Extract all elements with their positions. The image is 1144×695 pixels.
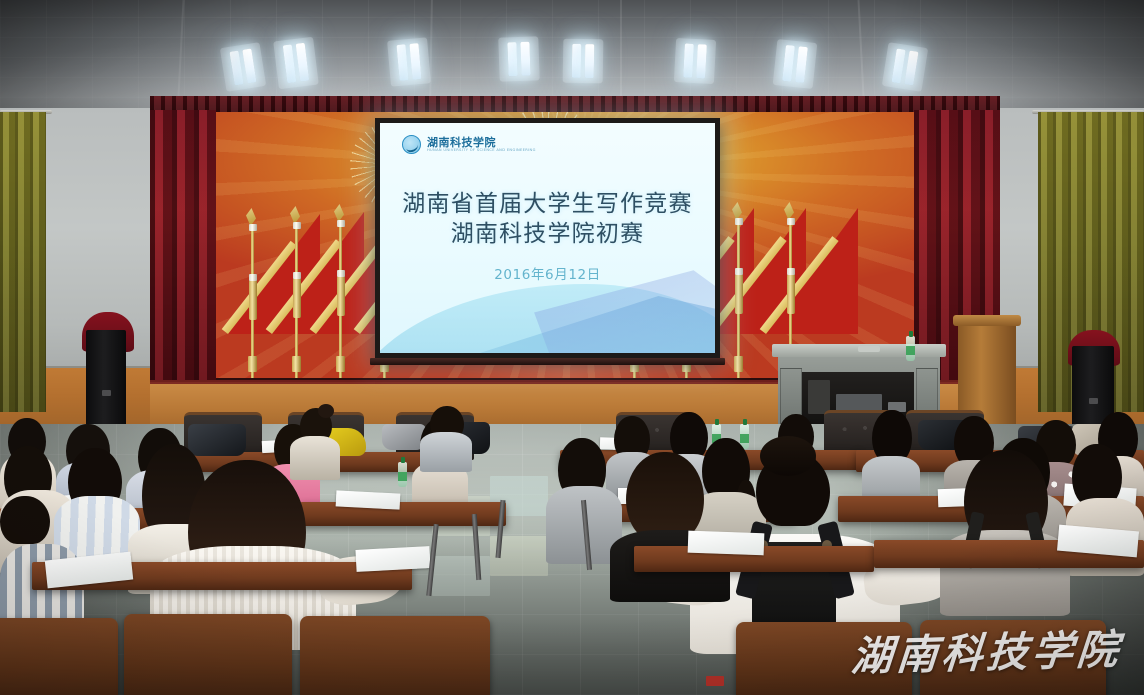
slide-title: 湖南省首届大学生写作竞赛 湖南科技学院初赛 — [380, 189, 715, 250]
speaker-left — [86, 330, 126, 438]
console-remote — [858, 346, 880, 352]
student — [940, 450, 1070, 616]
projection-screen-bottom-bar — [370, 358, 725, 365]
side-curtain-left[interactable] — [0, 112, 46, 412]
slide-date: 2016年6月12日 — [380, 263, 715, 283]
auditorium-seat[interactable] — [300, 616, 490, 695]
exam-paper — [688, 531, 765, 556]
console-gear — [808, 380, 830, 414]
water-bottle — [906, 336, 915, 361]
projection-screen[interactable]: 湖南科技学院 HUNAN UNIVERSITY OF SCIENCE AND E… — [375, 118, 720, 358]
student — [610, 452, 730, 602]
projection-slide: 湖南科技学院 HUNAN UNIVERSITY OF SCIENCE AND E… — [380, 123, 715, 353]
slide-title-line2: 湖南科技学院初赛 — [380, 219, 715, 249]
slide-logo: 湖南科技学院 HUNAN UNIVERSITY OF SCIENCE AND E… — [402, 135, 536, 154]
podium-top — [953, 315, 1021, 326]
auditorium-seat[interactable] — [0, 618, 118, 695]
hair — [626, 452, 704, 540]
slide-title-line1: 湖南省首届大学生写作竞赛 — [380, 189, 715, 219]
hair-bun — [760, 436, 816, 476]
torso — [420, 432, 472, 472]
exam-paper — [355, 546, 430, 572]
hair — [1072, 444, 1122, 506]
auditorium-seat[interactable] — [124, 614, 292, 695]
hair-bun — [318, 404, 334, 418]
university-crest-icon — [402, 135, 421, 154]
watermark: 湖南科技学院 — [849, 615, 1124, 682]
slide-logo-subtitle: HUNAN UNIVERSITY OF SCIENCE AND ENGINEER… — [427, 148, 536, 152]
stage-curtain-left[interactable] — [150, 110, 216, 396]
student — [420, 406, 472, 472]
seat-number-tag — [706, 676, 724, 686]
hair — [0, 496, 50, 544]
water-bottle — [398, 462, 407, 487]
slide-logo-name: 湖南科技学院 — [427, 137, 536, 149]
lecture-hall-photo: 湖南科技学院 HUNAN UNIVERSITY OF SCIENCE AND E… — [0, 0, 1144, 695]
